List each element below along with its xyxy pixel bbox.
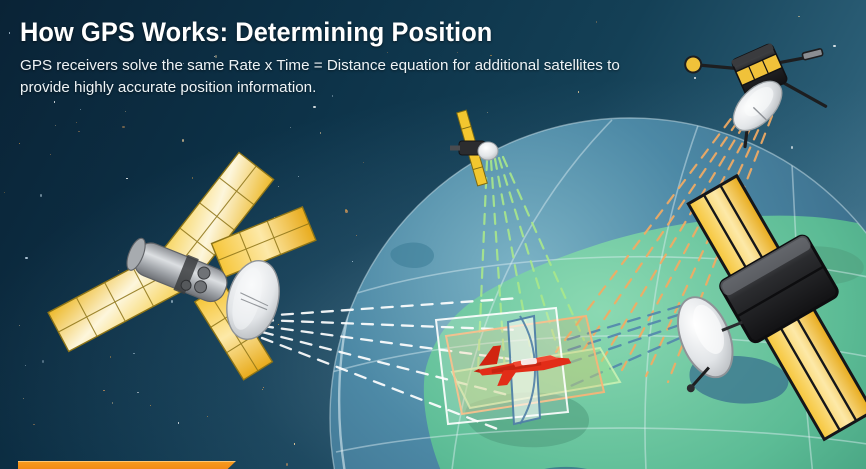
star-speck (278, 186, 279, 187)
receiver-aircraft (471, 338, 573, 388)
plane-white (436, 308, 568, 424)
star-speck (125, 111, 126, 112)
star-speck (791, 146, 793, 148)
globe-latitude-lines (332, 257, 866, 458)
gps-infographic-slide: How GPS Works: Determining Position GPS … (0, 0, 866, 469)
star-speck (290, 127, 291, 128)
star-speck (270, 257, 271, 258)
star-speck (263, 387, 264, 388)
globe-landmass (424, 216, 866, 469)
star-speck (110, 356, 111, 357)
star-speck (178, 422, 179, 423)
star-speck (259, 297, 260, 298)
star-speck (313, 106, 315, 108)
star-speck (50, 154, 51, 155)
position-fix-planes (436, 308, 620, 424)
star-speck (54, 101, 55, 102)
star-speck (298, 176, 299, 177)
globe-longitude-lines (448, 120, 866, 469)
solar-panel (457, 110, 476, 145)
star-speck (345, 210, 347, 212)
boom-tip (802, 48, 823, 60)
plane-blue-arc (520, 316, 535, 424)
dish-antenna (667, 283, 758, 385)
star-speck (133, 353, 134, 354)
star-speck (765, 133, 766, 134)
beam-from-satellite-top-right (556, 104, 772, 382)
plane-orange (446, 316, 604, 414)
star-speck (19, 143, 20, 144)
star-speck (356, 235, 357, 236)
dish-antenna (725, 73, 791, 140)
star-speck (694, 77, 696, 79)
earth-globe (330, 118, 866, 469)
star-speck (292, 213, 293, 214)
dish-antenna (478, 142, 498, 160)
star-speck (207, 416, 208, 417)
star-speck (274, 217, 275, 218)
boom-tip (685, 383, 696, 394)
plane-blue (508, 316, 540, 424)
plane-green (452, 348, 620, 408)
star-speck (25, 365, 26, 366)
star-speck (80, 109, 81, 110)
solar-panel (195, 284, 273, 380)
star-speck (112, 402, 113, 403)
star-speck (23, 398, 24, 399)
antenna-boom (688, 367, 713, 386)
solar-panel (160, 152, 273, 280)
antenna-boom (693, 21, 831, 153)
solar-panel (688, 176, 796, 308)
globe-land-detail-5 (781, 246, 864, 284)
dish-antenna (219, 255, 287, 345)
bottom-orange-tab[interactable] (18, 461, 236, 469)
beam-from-satellite-left (262, 298, 520, 430)
satellite-left (48, 152, 316, 379)
star-speck (33, 424, 34, 425)
star-speck (192, 177, 193, 178)
star-speck (9, 32, 10, 33)
page-subtitle: GPS receivers solve the same Rate x Time… (20, 55, 620, 98)
star-speck (150, 405, 151, 406)
star-speck (103, 390, 104, 391)
satellite-right (607, 161, 866, 469)
star-speck (798, 16, 799, 17)
star-speck (19, 325, 20, 326)
boom-tip (683, 54, 704, 75)
beam-from-satellite-right (560, 300, 700, 388)
solar-panel (764, 307, 866, 439)
star-speck (262, 188, 263, 189)
star-speck (76, 122, 77, 123)
star-speck (278, 324, 279, 325)
star-speck (264, 289, 265, 290)
star-speck (241, 305, 242, 306)
star-speck (487, 112, 488, 113)
beam-from-satellite-center (478, 157, 584, 372)
star-speck (352, 261, 353, 262)
page-title: How GPS Works: Determining Position (20, 18, 640, 46)
solar-panel (48, 252, 182, 351)
satellite-body (718, 234, 840, 345)
star-speck (126, 178, 127, 179)
star-speck (25, 257, 27, 259)
star-speck (294, 443, 295, 444)
globe-land-detail-1 (465, 392, 589, 447)
star-speck (171, 300, 173, 302)
star-speck (262, 389, 263, 390)
star-speck (4, 192, 5, 193)
globe-land-detail-2 (689, 356, 788, 404)
satellite-body (122, 234, 232, 308)
star-speck (137, 392, 138, 393)
globe-land-detail-4 (390, 243, 434, 269)
star-speck (55, 125, 56, 126)
star-speck (100, 321, 102, 323)
star-speck (40, 194, 42, 196)
header: How GPS Works: Determining Position GPS … (20, 18, 680, 99)
star-speck (59, 306, 60, 307)
star-speck (363, 162, 364, 163)
star-speck (286, 463, 288, 465)
globe-terminator (339, 238, 372, 469)
satellite-top-right (683, 7, 846, 156)
star-speck (42, 360, 44, 362)
satellite-center (450, 110, 498, 186)
satellite-body (731, 43, 788, 99)
star-speck (118, 270, 119, 271)
star-speck (345, 209, 347, 211)
star-speck (122, 126, 124, 128)
star-speck (78, 131, 79, 132)
solar-panel (212, 207, 316, 277)
solar-panel (468, 150, 487, 185)
star-speck (833, 45, 835, 47)
star-speck (320, 132, 321, 133)
star-speck (182, 139, 184, 141)
satellite-body (450, 141, 485, 155)
